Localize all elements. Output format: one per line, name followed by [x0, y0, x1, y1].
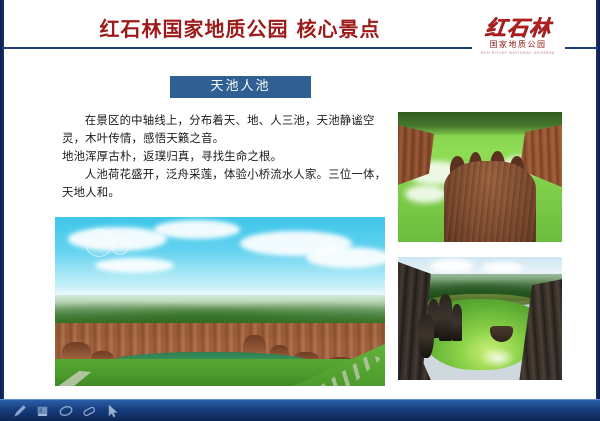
presentation-slide: 红石林国家地质公园 核心景点 红石林 国家地质公园 RED ROCKS NATI…: [0, 0, 600, 421]
cloud-shape: [483, 262, 522, 273]
slide-left-edge: [0, 0, 4, 421]
eraser-icon[interactable]: [79, 402, 99, 420]
body-text: 在景区的中轴线上，分布着天、地、人三池，天池静谧空灵，木叶传情，感悟天籁之音。 …: [62, 111, 388, 201]
logo-subtitle-cn: 国家地质公园: [472, 40, 564, 50]
logo-calligraphy: 红石林: [471, 16, 566, 40]
body-paragraph-2: 地池浑厚古朴，返璞归真，寻找生命之根。: [62, 147, 388, 165]
cloud-shape: [306, 247, 385, 267]
water-foam: [405, 185, 448, 203]
logo-subtitle-en: RED ROCKS NATIONAL GEOPARK: [472, 50, 564, 56]
page-title: 红石林国家地质公园 核心景点: [60, 16, 420, 42]
highlighter-icon[interactable]: [33, 402, 53, 420]
pen-icon[interactable]: [10, 402, 30, 420]
section-banner: 天池人池: [170, 76, 311, 98]
stone-pillar: [452, 304, 462, 341]
header-divider-left: [2, 47, 472, 49]
water-sun-glow: [480, 348, 516, 368]
slide-right-edge: [596, 0, 600, 421]
cursor-icon[interactable]: [102, 402, 122, 420]
cloud-shape: [154, 220, 240, 239]
body-paragraph-3: 人池荷花盛开，泛舟采莲，体验小桥流水人家。三位一体，天地人和。: [62, 165, 388, 201]
body-paragraph-1: 在景区的中轴线上，分布着天、地、人三池，天池静谧空灵，木叶传情，感悟天籁之音。: [62, 111, 388, 147]
stone-pillar: [418, 314, 434, 358]
header-divider-right: [565, 47, 598, 49]
photo-panorama-red-stone-forest: [55, 217, 385, 386]
stone-pillar: [439, 294, 452, 341]
photo-green-pond-dark-pillars: [398, 257, 562, 380]
red-boulder: [444, 161, 536, 242]
cloud-shape: [95, 258, 174, 273]
photo-green-pool-red-rock: [398, 112, 562, 242]
annotation-toolbar[interactable]: [0, 399, 600, 421]
ellipse-icon[interactable]: [56, 402, 76, 420]
cloud-shape: [431, 259, 474, 271]
park-logo: 红石林 国家地质公园 RED ROCKS NATIONAL GEOPARK: [472, 16, 564, 62]
lens-flare: [85, 229, 113, 257]
